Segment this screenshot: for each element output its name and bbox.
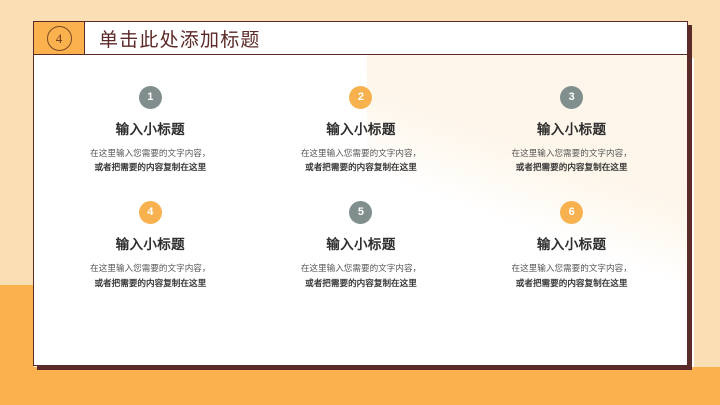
item-number-badge: 1: [139, 86, 162, 109]
item-number-badge: 3: [560, 86, 583, 109]
slide-canvas: 4 单击此处添加标题 1 输入小标题 在这里输入您需要的文字内容， 或者把需要的…: [0, 0, 720, 405]
item-description-line2: 或者把需要的内容复制在这里: [474, 277, 669, 291]
slide-number-ring: 4: [47, 26, 72, 51]
item-description-line2: 或者把需要的内容复制在这里: [53, 161, 248, 175]
item-title[interactable]: 输入小标题: [326, 118, 396, 138]
item-description[interactable]: 在这里输入您需要的文字内容， 或者把需要的内容复制在这里: [53, 262, 248, 290]
content-item[interactable]: 1 输入小标题 在这里输入您需要的文字内容， 或者把需要的内容复制在这里: [45, 86, 256, 175]
decor-peach-top-band: [0, 0, 720, 22]
item-description[interactable]: 在这里输入您需要的文字内容， 或者把需要的内容复制在这里: [474, 147, 669, 175]
item-number-badge: 5: [349, 201, 372, 224]
item-description[interactable]: 在这里输入您需要的文字内容， 或者把需要的内容复制在这里: [264, 262, 459, 290]
decor-orange-bottom-band: [0, 367, 720, 405]
slide-title[interactable]: 单击此处添加标题: [85, 22, 261, 54]
item-description-line1: 在这里输入您需要的文字内容，: [53, 147, 248, 161]
item-description-line1: 在这里输入您需要的文字内容，: [53, 262, 248, 276]
decor-orange-right-block: [694, 367, 720, 405]
item-title[interactable]: 输入小标题: [537, 233, 607, 253]
item-number-badge: 2: [349, 86, 372, 109]
content-item[interactable]: 4 输入小标题 在这里输入您需要的文字内容， 或者把需要的内容复制在这里: [45, 201, 256, 290]
slide-number-badge[interactable]: 4: [34, 22, 85, 54]
item-description-line2: 或者把需要的内容复制在这里: [264, 161, 459, 175]
content-item[interactable]: 6 输入小标题 在这里输入您需要的文字内容， 或者把需要的内容复制在这里: [466, 201, 677, 290]
slide-header-bar: 4 单击此处添加标题: [33, 21, 688, 55]
item-title[interactable]: 输入小标题: [326, 233, 396, 253]
item-number-badge: 6: [560, 201, 583, 224]
item-description-line1: 在这里输入您需要的文字内容，: [264, 147, 459, 161]
item-description-line1: 在这里输入您需要的文字内容，: [264, 262, 459, 276]
content-item[interactable]: 3 输入小标题 在这里输入您需要的文字内容， 或者把需要的内容复制在这里: [466, 86, 677, 175]
item-title[interactable]: 输入小标题: [116, 233, 186, 253]
item-description-line2: 或者把需要的内容复制在这里: [53, 277, 248, 291]
decor-peach-right-band: [694, 0, 720, 405]
item-description-line2: 或者把需要的内容复制在这里: [474, 161, 669, 175]
item-description-line1: 在这里输入您需要的文字内容，: [474, 262, 669, 276]
content-grid: 1 输入小标题 在这里输入您需要的文字内容， 或者把需要的内容复制在这里 2 输…: [45, 86, 677, 317]
content-item[interactable]: 5 输入小标题 在这里输入您需要的文字内容， 或者把需要的内容复制在这里: [256, 201, 467, 290]
item-description[interactable]: 在这里输入您需要的文字内容， 或者把需要的内容复制在这里: [53, 147, 248, 175]
item-description-line2: 或者把需要的内容复制在这里: [264, 277, 459, 291]
item-description[interactable]: 在这里输入您需要的文字内容， 或者把需要的内容复制在这里: [264, 147, 459, 175]
item-number-badge: 4: [139, 201, 162, 224]
item-description[interactable]: 在这里输入您需要的文字内容， 或者把需要的内容复制在这里: [474, 262, 669, 290]
item-title[interactable]: 输入小标题: [537, 118, 607, 138]
item-description-line1: 在这里输入您需要的文字内容，: [474, 147, 669, 161]
item-title[interactable]: 输入小标题: [116, 118, 186, 138]
decor-orange-left-block: [0, 285, 34, 405]
content-item[interactable]: 2 输入小标题 在这里输入您需要的文字内容， 或者把需要的内容复制在这里: [256, 86, 467, 175]
